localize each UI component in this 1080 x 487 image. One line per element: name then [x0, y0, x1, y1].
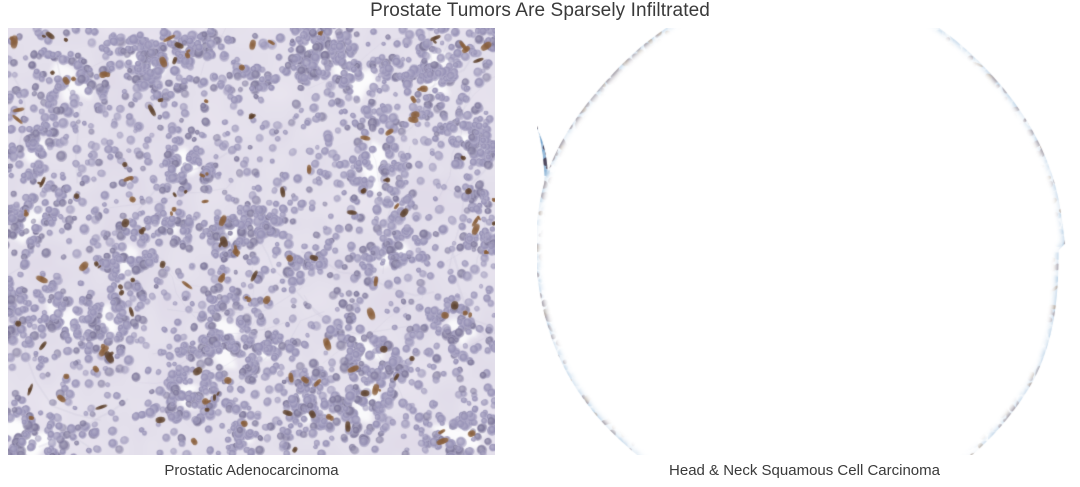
figure-title: Prostate Tumors Are Sparsely Infiltrated [0, 0, 1080, 24]
micrograph-image-prostatic-adenocarcinoma [8, 28, 495, 455]
panel-caption-head-neck-squamous-cell-carcinoma: Head & Neck Squamous Cell Carcinoma [537, 461, 1072, 483]
micrograph-image-head-neck-squamous-cell-carcinoma [537, 28, 1072, 455]
figure-root: Prostate Tumors Are Sparsely Infiltrated… [0, 0, 1080, 487]
micrograph-panel-prostatic-adenocarcinoma [8, 28, 495, 455]
panel-caption-prostatic-adenocarcinoma: Prostatic Adenocarcinoma [8, 461, 495, 483]
micrograph-panel-head-neck-squamous-cell-carcinoma [537, 28, 1072, 455]
